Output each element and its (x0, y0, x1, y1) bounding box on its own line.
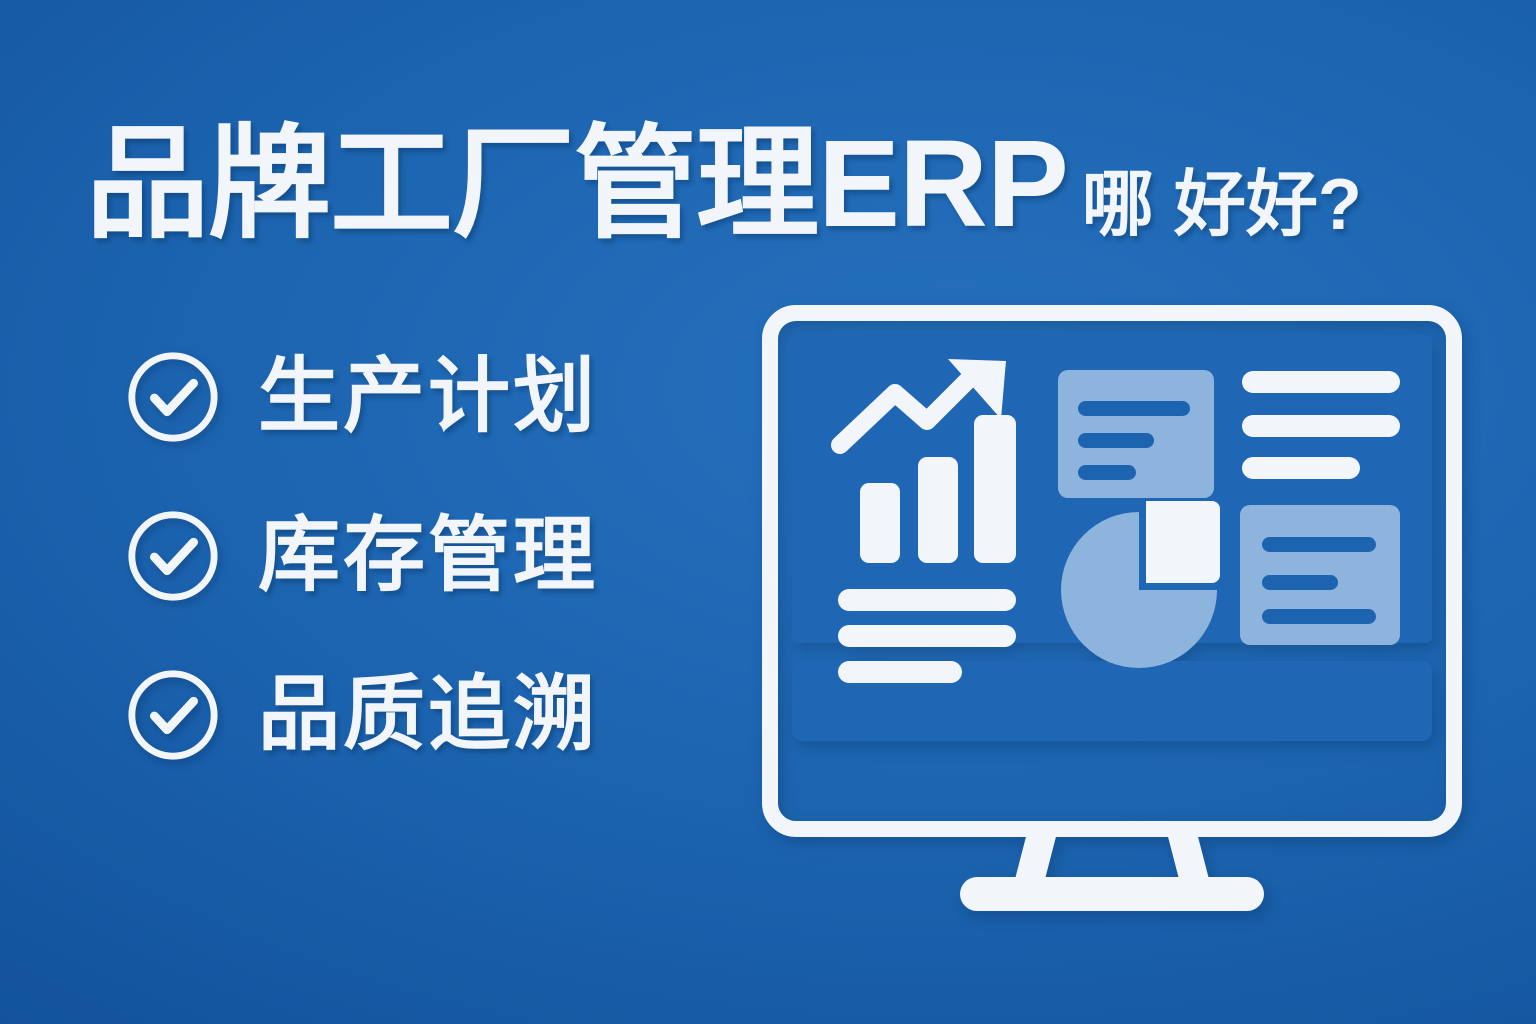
poster-canvas: 品牌工厂管理ERP 哪 好好? 生产计划 库存管理 品质追溯 (0, 0, 1536, 1024)
check-circle-icon (124, 348, 222, 446)
text-line (1242, 371, 1400, 393)
bar-1 (860, 483, 900, 563)
card-text-line (1078, 465, 1136, 480)
monitor-base (960, 877, 1264, 911)
info-card-bottom (1240, 505, 1400, 645)
list-item: 生产计划 (124, 348, 598, 446)
text-line (838, 589, 1016, 611)
feature-label: 库存管理 (258, 515, 598, 597)
text-line (838, 625, 1016, 647)
card-text-line (1078, 433, 1154, 448)
list-item: 品质追溯 (124, 666, 598, 764)
text-line (838, 661, 962, 683)
monitor-stand-leg-right (1166, 829, 1210, 883)
headline-main-text: 品牌工厂管理ERP (86, 123, 1068, 246)
list-item: 库存管理 (124, 507, 598, 605)
dashboard-monitor-illustration (762, 305, 1462, 920)
check-circle-icon (124, 507, 222, 605)
card-text-line (1262, 609, 1376, 624)
page-title: 品牌工厂管理ERP 哪 好好? (86, 86, 1466, 246)
bar-3 (974, 415, 1016, 563)
card-text-line (1262, 575, 1338, 590)
text-line (1242, 415, 1400, 437)
feature-list: 生产计划 库存管理 品质追溯 (124, 348, 598, 764)
feature-label: 品质追溯 (258, 674, 598, 756)
pie-slice-minor (1146, 501, 1220, 583)
check-circle-icon (124, 666, 222, 764)
bar-2 (918, 457, 958, 563)
monitor-stand-leg-left (1014, 829, 1058, 883)
headline-sub-text: 哪 好好? (1082, 169, 1362, 246)
card-text-line (1262, 537, 1376, 552)
card-text-line (1078, 401, 1190, 416)
feature-label: 生产计划 (258, 356, 598, 438)
info-card-top (1058, 370, 1214, 498)
text-line (1242, 457, 1360, 479)
